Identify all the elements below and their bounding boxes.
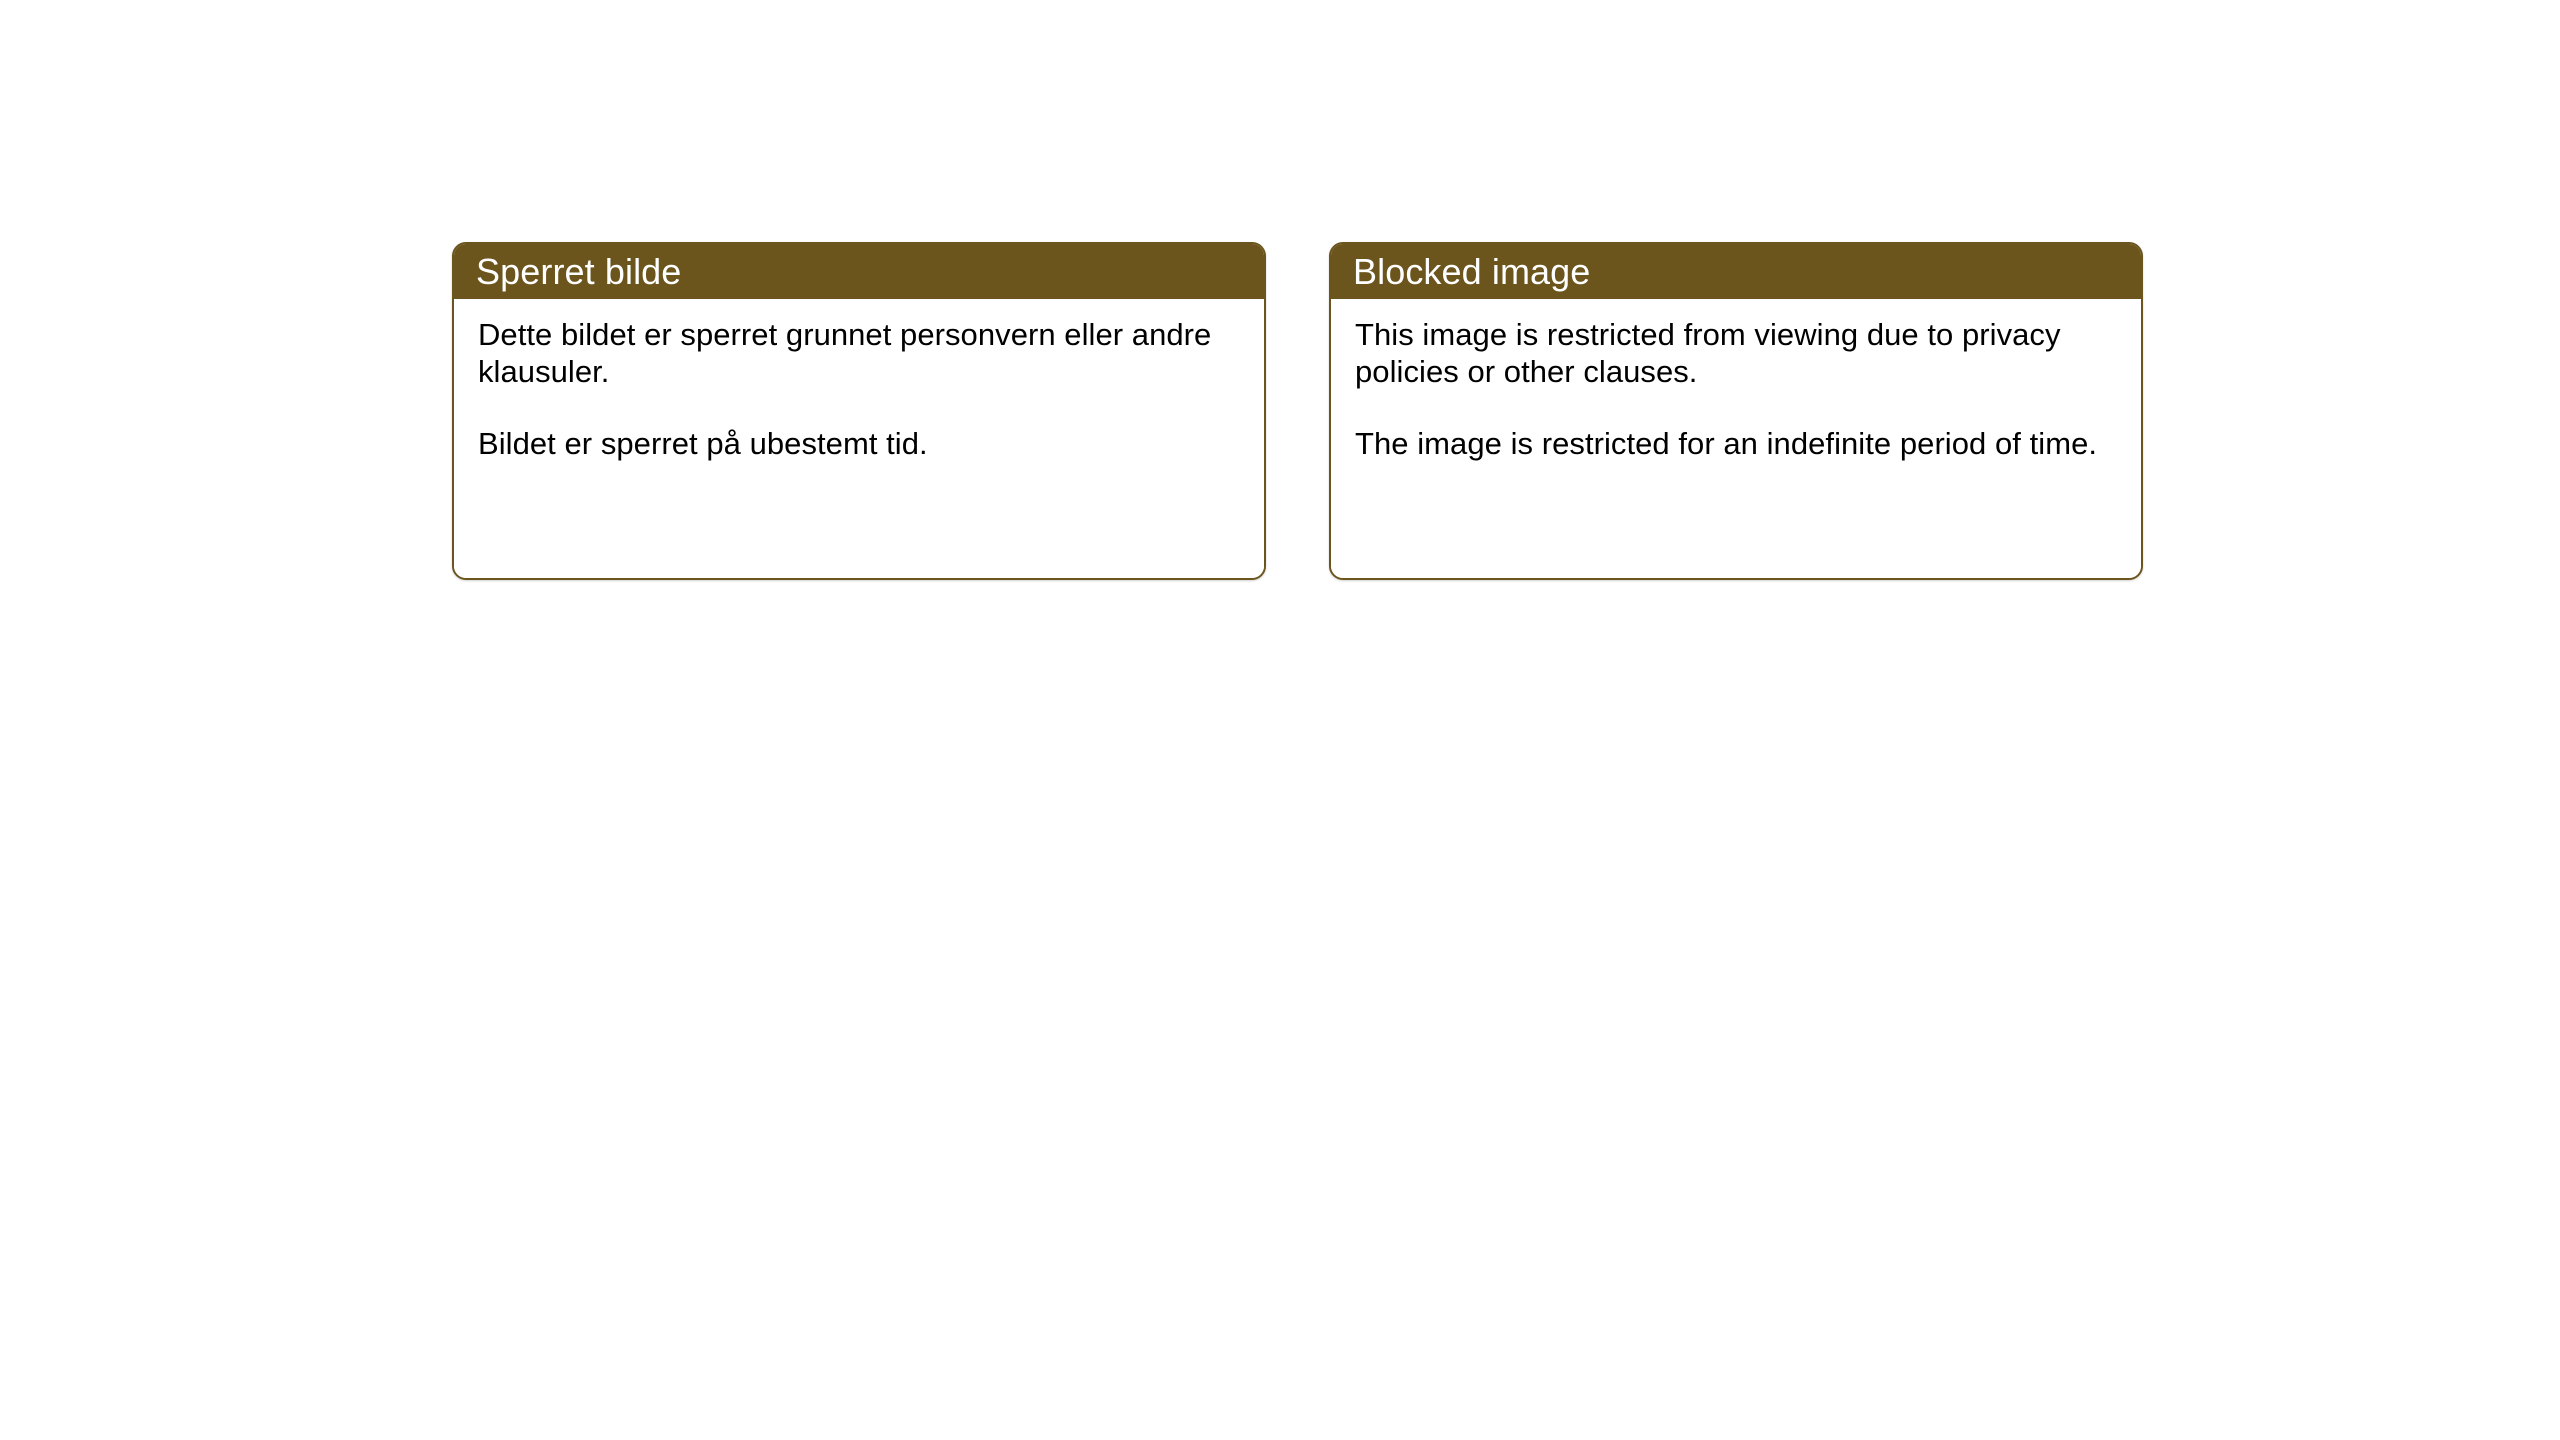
card-header-english: Blocked image	[1331, 244, 2141, 299]
card-body-norwegian: Dette bildet er sperret grunnet personve…	[454, 299, 1264, 578]
blocked-image-notice-area: Sperret bilde Dette bildet er sperret gr…	[452, 242, 2143, 580]
card-paragraph-norwegian-2: Bildet er sperret på ubestemt tid.	[478, 426, 1240, 463]
card-paragraph-english-1: This image is restricted from viewing du…	[1355, 317, 2117, 390]
blocked-image-card-english: Blocked image This image is restricted f…	[1329, 242, 2143, 580]
card-paragraph-norwegian-1: Dette bildet er sperret grunnet personve…	[478, 317, 1240, 390]
card-body-english: This image is restricted from viewing du…	[1331, 299, 2141, 578]
card-title-norwegian: Sperret bilde	[476, 252, 681, 292]
card-paragraph-english-2: The image is restricted for an indefinit…	[1355, 426, 2117, 463]
card-header-norwegian: Sperret bilde	[454, 244, 1264, 299]
card-title-english: Blocked image	[1353, 252, 1590, 292]
blocked-image-card-norwegian: Sperret bilde Dette bildet er sperret gr…	[452, 242, 1266, 580]
